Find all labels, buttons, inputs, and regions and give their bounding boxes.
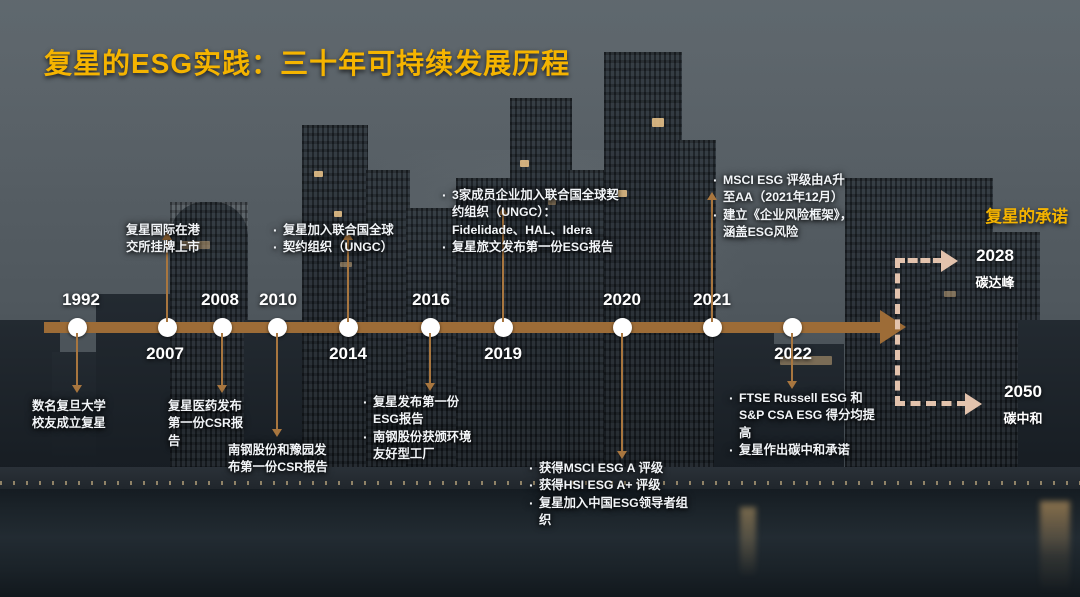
event-1992-line-1: 数名复旦大学 bbox=[32, 398, 162, 415]
commitment-heading: 复星的承诺 bbox=[986, 203, 1069, 227]
connector-arrow-2020-icon bbox=[617, 451, 627, 459]
connector-stem-2020 bbox=[621, 333, 623, 451]
event-2014-bullet-1-line-2: 契约组织（UNGC） bbox=[272, 239, 422, 256]
window-light-d bbox=[520, 160, 529, 167]
year-label-2019: 2019 bbox=[484, 344, 522, 364]
window-light-b bbox=[334, 211, 342, 217]
event-2016-bullet-2-line-2: 友好型工厂 bbox=[362, 446, 522, 463]
event-block-2022: FTSE Russell ESG 和 S&P CSA ESG 得分均提 高 复星… bbox=[728, 390, 888, 460]
event-block-2016: 复星发布第一份 ESG报告 南钢股份获颁环境 友好型工厂 bbox=[362, 394, 522, 464]
year-label-2008: 2008 bbox=[201, 290, 239, 310]
event-block-2020: 获得MSCI ESG A 评级 获得HSI ESG A+ 评级 复星加入中国ES… bbox=[528, 460, 738, 530]
commitment-goal-2028: 2028 碳达峰 bbox=[956, 246, 1034, 291]
year-label-2016: 2016 bbox=[412, 290, 450, 310]
event-2008-line-2: 第一份CSR报 bbox=[168, 415, 278, 432]
event-block-1992: 数名复旦大学 校友成立复星 bbox=[32, 398, 162, 433]
event-2021-bullet-1-line-2: 至AA（2021年12月） bbox=[712, 189, 892, 206]
event-2019-bullet-2-line-1: 复星旅文发布第一份ESG报告 bbox=[441, 239, 651, 256]
event-block-2007: 复星国际在港 交所挂牌上市 bbox=[126, 222, 266, 257]
event-2007-line-2: 交所挂牌上市 bbox=[126, 239, 266, 256]
year-label-2014: 2014 bbox=[329, 344, 367, 364]
commitment-goal-2028-year: 2028 bbox=[956, 246, 1034, 266]
page-title: 复星的ESG实践：三十年可持续发展历程 bbox=[44, 42, 570, 82]
event-2021-bullet-2-line-1: 建立《企业风险框架》， bbox=[712, 207, 892, 224]
window-light-h bbox=[944, 291, 956, 297]
tower-peak-right bbox=[604, 52, 682, 470]
event-2016-bullet-2-line-1: 南钢股份获颁环境 bbox=[362, 429, 522, 446]
connector-arrow-2022-icon bbox=[787, 381, 797, 389]
event-2016-bullet-1-line-2: ESG报告 bbox=[362, 411, 522, 428]
connector-stem-2016 bbox=[429, 333, 431, 383]
slide-root: 复星的ESG实践：三十年可持续发展历程 1992 2007 2008 2010 … bbox=[0, 0, 1080, 597]
event-block-2014: 复星加入联合国全球 契约组织（UNGC） bbox=[272, 222, 422, 257]
year-label-1992: 1992 bbox=[62, 290, 100, 310]
water-reflection-main bbox=[1040, 501, 1070, 593]
event-2022-bullet-1-line-2: S&P CSA ESG 得分均提 bbox=[728, 407, 888, 424]
event-2022-bullet-1-line-3: 高 bbox=[728, 425, 888, 442]
window-light-f bbox=[652, 118, 664, 127]
commitment-branch-arm-2028 bbox=[895, 258, 943, 263]
event-2008-line-1: 复星医药发布 bbox=[168, 398, 278, 415]
commitment-goal-2028-label: 碳达峰 bbox=[956, 272, 1034, 291]
window-light-c bbox=[340, 262, 352, 267]
connector-stem-2008 bbox=[221, 333, 223, 385]
year-label-2020: 2020 bbox=[603, 290, 641, 310]
event-2021-bullet-1-line-1: MSCI ESG 评级由A升 bbox=[712, 172, 892, 189]
event-2014-bullet-1-line-1: 复星加入联合国全球 bbox=[272, 222, 422, 239]
commitment-goal-2050-year: 2050 bbox=[984, 382, 1062, 402]
event-2021-bullet-2-line-2: 涵盖ESG风险 bbox=[712, 224, 892, 241]
event-block-2019: 3家成员企业加入联合国全球契 约组织（UNGC）： Fidelidade、HAL… bbox=[441, 187, 651, 257]
year-label-2022: 2022 bbox=[774, 344, 812, 364]
connector-stem-1992 bbox=[76, 333, 78, 385]
year-label-2007: 2007 bbox=[146, 344, 184, 364]
event-2019-bullet-1-line-2: 约组织（UNGC）： bbox=[441, 204, 651, 221]
commitment-goal-2050: 2050 碳中和 bbox=[984, 382, 1062, 427]
event-2020-bullet-1-line-1: 获得MSCI ESG A 评级 bbox=[528, 460, 738, 477]
event-2016-bullet-1-line-1: 复星发布第一份 bbox=[362, 394, 522, 411]
event-2007-line-1: 复星国际在港 bbox=[126, 222, 266, 239]
event-1992-line-2: 校友成立复星 bbox=[32, 415, 162, 432]
commitment-arrow-2050-icon bbox=[965, 393, 982, 415]
connector-arrow-2016-icon bbox=[425, 383, 435, 391]
year-label-2010: 2010 bbox=[259, 290, 297, 310]
connector-stem-2022 bbox=[791, 333, 793, 381]
water-reflection-secondary bbox=[740, 507, 756, 577]
event-2022-bullet-1-line-1: FTSE Russell ESG 和 bbox=[728, 390, 888, 407]
building-block-far-left bbox=[0, 320, 60, 470]
event-2019-bullet-1-line-1: 3家成员企业加入联合国全球契 bbox=[441, 187, 651, 204]
event-2019-bullet-1-line-3: Fidelidade、HAL、Idera bbox=[441, 222, 651, 239]
event-2022-bullet-2-line-1: 复星作出碳中和承诺 bbox=[728, 442, 888, 459]
event-2020-bullet-3-line-1: 复星加入中国ESG领导者组 bbox=[528, 495, 738, 512]
event-2020-bullet-3-line-2: 织 bbox=[528, 512, 738, 529]
connector-arrow-1992-icon bbox=[72, 385, 82, 393]
commitment-goal-2050-label: 碳中和 bbox=[984, 408, 1062, 427]
tower-tall-center-left bbox=[302, 125, 368, 470]
event-2020-bullet-2-line-1: 获得HSI ESG A+ 评级 bbox=[528, 477, 738, 494]
commitment-branch-vertical-dashed bbox=[895, 258, 900, 406]
timeline-arrow-head-icon bbox=[880, 310, 906, 344]
event-block-2021: MSCI ESG 评级由A升 至AA（2021年12月） 建立《企业风险框架》，… bbox=[712, 172, 892, 242]
commitment-branch-arm-2050 bbox=[895, 401, 967, 406]
window-light-a bbox=[314, 171, 323, 177]
connector-arrow-2008-icon bbox=[217, 385, 227, 393]
